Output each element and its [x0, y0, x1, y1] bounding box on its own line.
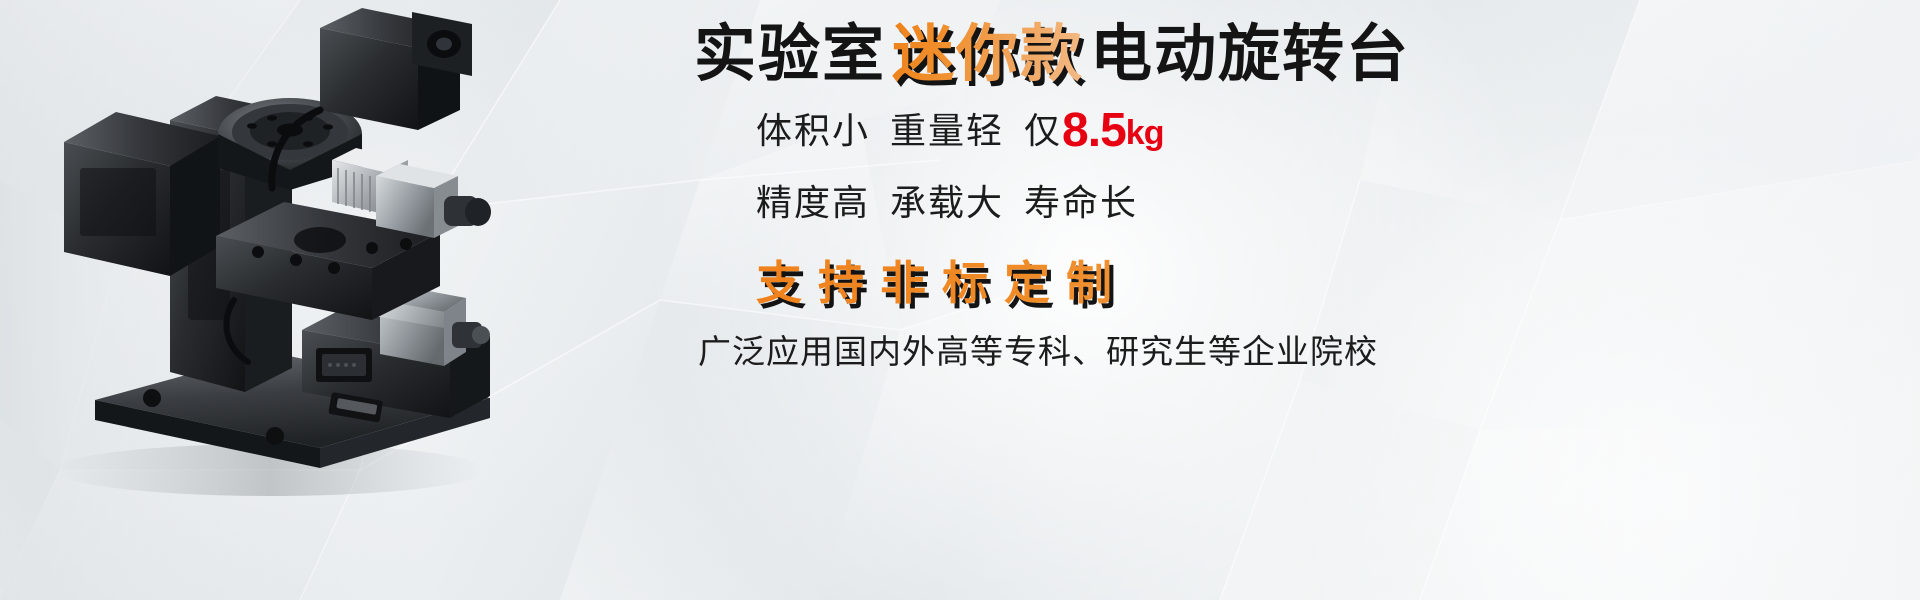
headline-accent: 迷你款 [886, 20, 1090, 89]
weight-value: 8.5 [1062, 104, 1126, 157]
feature-item-precision: 精度高 [756, 182, 870, 223]
product-image [20, 0, 580, 500]
headline: 实验室迷你款电动旋转台 [690, 22, 1880, 87]
product-banner: 实验室迷你款电动旋转台 体积小重量轻仅8.5kg 精度高承载大寿命长 支持非标定… [0, 0, 1920, 600]
footer-line: 广泛应用国内外高等专科、研究生等企业院校 [690, 335, 1880, 368]
banner-copy: 实验室迷你款电动旋转台 体积小重量轻仅8.5kg 精度高承载大寿命长 支持非标定… [690, 22, 1880, 582]
feature-item-lifespan: 寿命长 [1024, 182, 1138, 223]
feature-item-load: 承载大 [890, 182, 1004, 223]
feature-item-only: 仅 [1024, 110, 1062, 151]
headline-prefix: 实验室 [694, 20, 886, 89]
custom-service-line: 支持非标定制 [690, 247, 1880, 313]
feature-line-1: 体积小重量轻仅8.5kg [690, 107, 1880, 155]
headline-suffix: 电动旋转台 [1090, 20, 1410, 89]
feature-line-2: 精度高承载大寿命长 [690, 185, 1880, 221]
weight-unit: kg [1126, 114, 1164, 152]
feature-item-volume: 体积小 [756, 110, 870, 151]
feature-item-weight: 重量轻 [890, 110, 1004, 151]
